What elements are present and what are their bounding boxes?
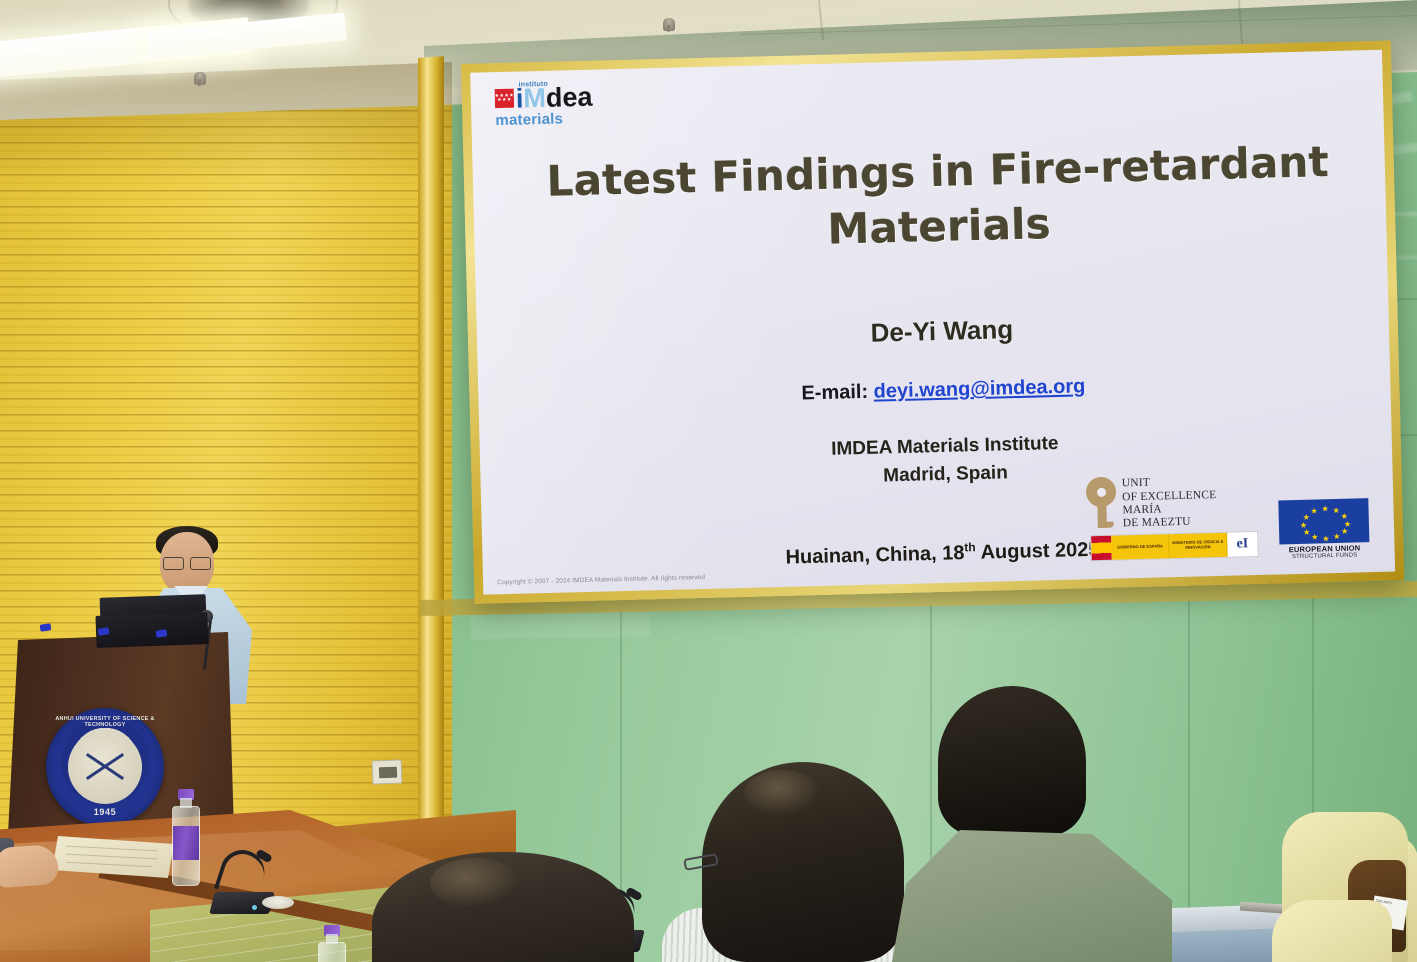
imdea-letters-dea: dea: [546, 84, 593, 111]
emblem-founding-year: 1945: [46, 807, 164, 817]
slide-author: De-Yi Wang: [537, 306, 1348, 357]
slide-title: Latest Findings in Fire-retardant Materi…: [532, 135, 1345, 265]
eu-caption-2: STRUCTURAL FUNDS: [1292, 552, 1358, 560]
imdea-logo: ★★★★ ★★★ instituto i M dea materials: [495, 81, 626, 130]
imdea-instituto-tag: instituto: [518, 81, 548, 89]
venue-suffix: August 2025: [976, 539, 1100, 564]
slide-copyright: Copyright © 2007 - 2024 IMDEA Materials …: [497, 574, 705, 586]
maeztu-text: UNIT OF EXCELLENCE MARÍA DE MAEZTU: [1122, 475, 1218, 531]
maria-de-maeztu-logo: UNIT OF EXCELLENCE MARÍA DE MAEZTU: [1086, 471, 1247, 535]
email-link[interactable]: deyi.wang@imdea.org: [873, 375, 1085, 402]
venue-ordinal: th: [964, 540, 976, 554]
european-union-logo: ★ ★ ★ ★ ★ ★ ★ ★ ★ ★ ★ ★ EUROPEAN UNION: [1277, 498, 1371, 562]
comunidad-madrid-logo: ★★★★ Comunidad de Madrid: [1387, 496, 1395, 560]
imdea-letter-m: M: [523, 85, 546, 112]
slide-email-row: E-mail: deyi.wang@imdea.org: [538, 369, 1348, 412]
wall-reflection: [470, 610, 650, 639]
sprinkler-head-icon: [194, 72, 206, 85]
university-emblem: ANHUI UNIVERSITY OF SCIENCE & TECHNOLOGY…: [46, 708, 164, 826]
presentation-room-photo: ★★★★ ★★★ instituto i M dea materials Lat…: [0, 0, 1417, 962]
glasses-icon: [163, 557, 211, 568]
slide-surface: ★★★★ ★★★ instituto i M dea materials Lat…: [470, 50, 1395, 595]
venue-prefix: Huainan, China, 18: [785, 542, 964, 569]
audience-chair-front[interactable]: [1272, 900, 1392, 962]
madrid-stars-glyph: ★★★★ ★★★: [495, 94, 515, 102]
spain-flag-icon: [1091, 536, 1112, 560]
maeztu-line-2: OF EXCELLENCE: [1122, 489, 1217, 505]
audience-head-center: [702, 762, 904, 962]
email-label: E-mail:: [801, 381, 868, 405]
bottle-label: [173, 826, 199, 860]
writing-hand: [0, 844, 59, 888]
audience-head-right: [938, 686, 1086, 836]
gob-cell-1: GOBIERNO DE ESPAÑA: [1111, 534, 1170, 559]
emblem-center: [68, 730, 142, 804]
imdea-materials-word: materials: [495, 110, 625, 128]
microphone-led-icon: [252, 905, 257, 910]
laptop[interactable]: [95, 612, 208, 648]
emblem-university-name: ANHUI UNIVERSITY OF SCIENCE & TECHNOLOGY: [46, 716, 164, 728]
gob-cell-2: MINISTERIO DE CIENCIA E INNOVACIÓN: [1169, 533, 1228, 558]
gob-ce-icon: eI: [1227, 532, 1258, 557]
key-icon: [1086, 477, 1117, 534]
gobierno-espana-logo: GOBIERNO DE ESPAÑA MINISTERIO DE CIENCIA…: [1090, 531, 1259, 561]
wall-socket: [372, 759, 403, 784]
bottle-body: [318, 942, 346, 962]
sprinkler-head-icon: [663, 18, 675, 31]
projection-screen: ★★★★ ★★★ instituto i M dea materials Lat…: [461, 40, 1404, 603]
table-coaster: [262, 896, 294, 909]
eu-flag-icon: ★ ★ ★ ★ ★ ★ ★ ★ ★ ★ ★ ★: [1278, 498, 1369, 544]
water-bottle[interactable]: [318, 926, 346, 962]
maeztu-line-4: DE MAEZTU: [1123, 515, 1218, 531]
madrid-stars-icon: ★★★★ ★★★: [495, 88, 514, 107]
wall-gold-trim: [418, 56, 444, 848]
screen-gold-frame: ★★★★ ★★★ instituto i M dea materials Lat…: [461, 40, 1404, 603]
madrid-flag-icon: ★★★★: [1394, 496, 1395, 541]
water-bottle[interactable]: [172, 790, 200, 886]
